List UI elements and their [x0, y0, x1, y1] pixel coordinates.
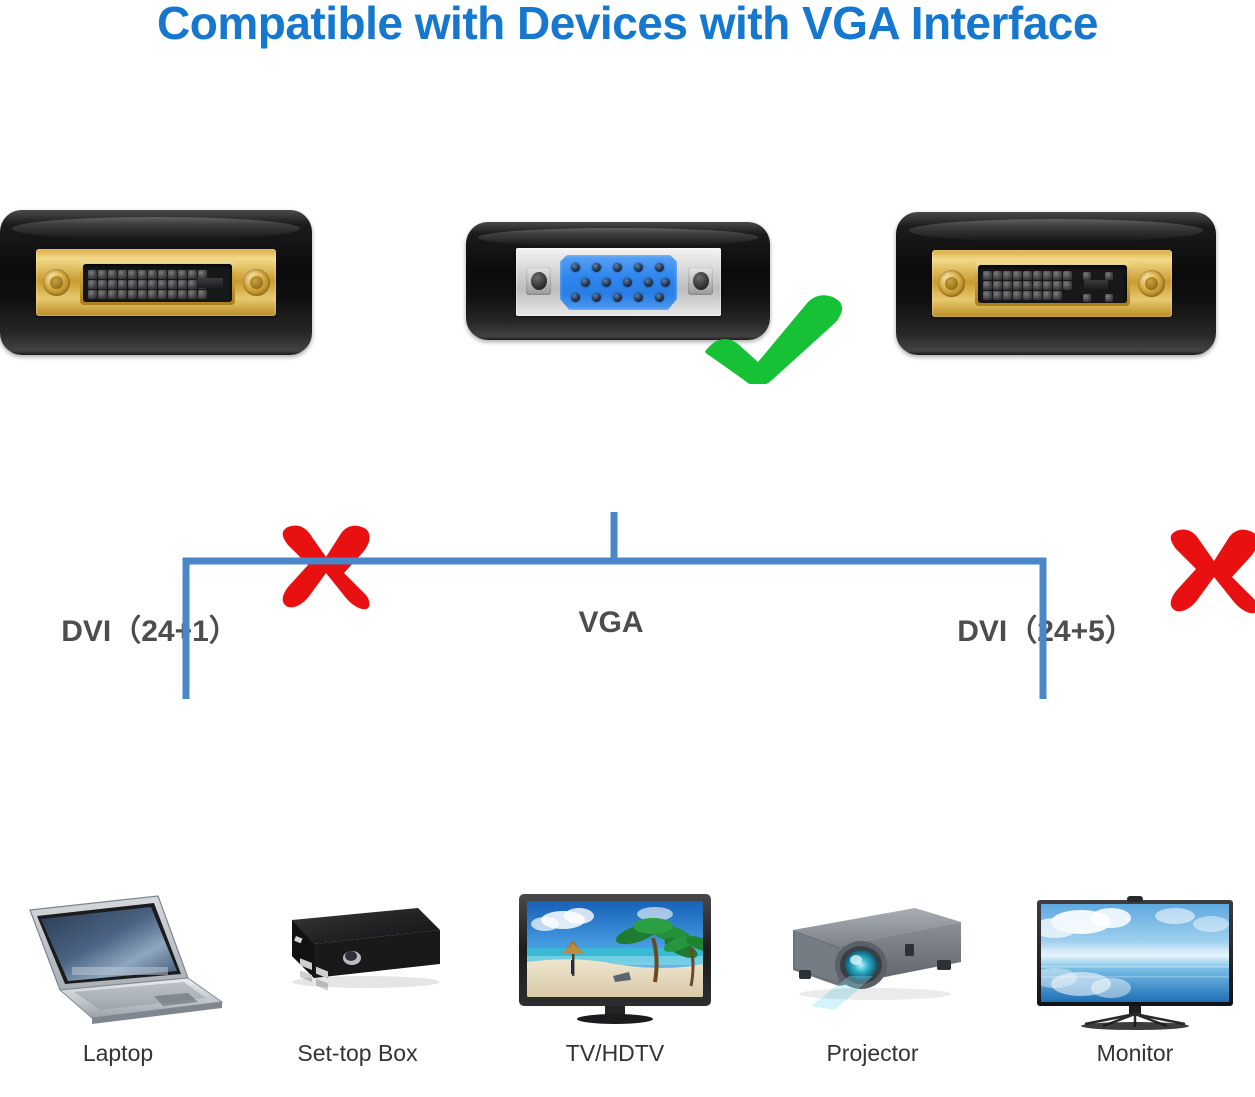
device-label-monitor: Monitor [1025, 1040, 1245, 1067]
page-title: Compatible with Devices with VGA Interfa… [0, 0, 1255, 50]
laptop-icon [8, 882, 228, 1032]
device-label-laptop: Laptop [8, 1040, 228, 1067]
dvi-pin-cavity [80, 261, 235, 305]
monitor-icon [1025, 882, 1245, 1032]
set-top-box-icon [250, 882, 465, 1032]
device-label-tv: TV/HDTV [505, 1040, 725, 1067]
device-laptop: Laptop [8, 882, 228, 1097]
vga-dsub-shell [560, 255, 677, 310]
device-label-set-top-box: Set-top Box [250, 1040, 465, 1067]
connector-body [0, 210, 312, 355]
dvi-screw-right [1138, 270, 1165, 297]
device-set-top-box: Set-top Box [250, 882, 465, 1097]
vga-pin-array [560, 255, 677, 310]
connector-dvi-24-1: DVI（24+1） [0, 210, 320, 355]
dvi-pin-cavity [975, 262, 1130, 306]
device-monitor: Monitor [1025, 882, 1245, 1097]
dvi-pin-grid [88, 270, 207, 299]
dvi-pin-grid [983, 271, 1072, 300]
connector-vga: VGA [466, 222, 786, 344]
dvi-screw-left [938, 270, 965, 297]
vga-screw-right [688, 267, 713, 295]
green-check-icon [702, 294, 847, 384]
connector-body [896, 212, 1216, 355]
television-icon [505, 882, 725, 1032]
connection-bracket [0, 500, 1255, 715]
connector-dvi-24-5: DVI（24+5） [896, 212, 1226, 357]
projector-icon [765, 882, 980, 1032]
vga-screw-left [526, 267, 551, 295]
device-tv: TV/HDTV [505, 882, 725, 1097]
dvi-flat-blade [1084, 280, 1108, 289]
infographic-page: Compatible with Devices with VGA Interfa… [0, 0, 1255, 1097]
dvi-screw-right [243, 269, 270, 296]
device-label-projector: Projector [765, 1040, 980, 1067]
dvi-screw-left [43, 269, 70, 296]
dvi-flat-blade [197, 278, 223, 288]
device-projector: Projector [765, 882, 980, 1097]
